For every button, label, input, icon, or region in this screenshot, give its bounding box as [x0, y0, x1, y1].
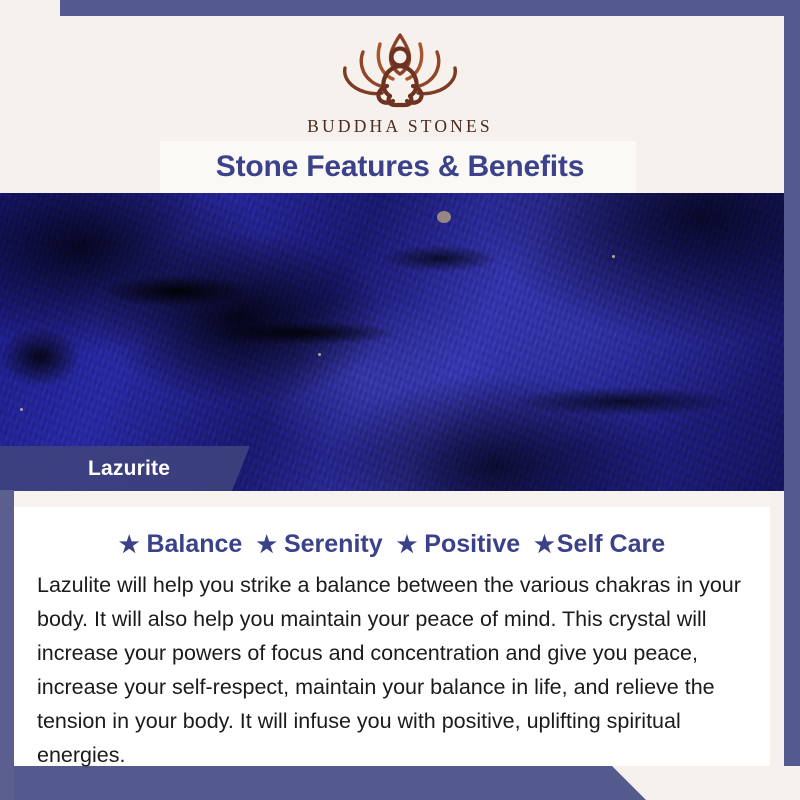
content-top-strip	[14, 491, 770, 507]
stone-name-label: Lazurite	[88, 457, 170, 481]
stone-photo-inclusion	[437, 211, 451, 223]
stone-photo-speck	[318, 353, 321, 356]
card-header: BUDDHA STONES	[0, 16, 800, 145]
frame-top-border	[0, 0, 800, 16]
stone-photo-speck	[20, 408, 23, 411]
feature-keywords-row: ★ Balance ★ Serenity ★ Positive ★ Self C…	[14, 530, 770, 559]
star-icon: ★	[397, 533, 418, 556]
feature-label: Serenity	[284, 530, 383, 559]
page-title: Stone Features & Benefits	[0, 141, 800, 193]
star-icon: ★	[119, 533, 140, 556]
feature-label: Positive	[424, 530, 520, 559]
frame-left-border	[0, 490, 14, 800]
stone-description: Lazulite will help you strike a balance …	[37, 568, 749, 772]
frame-right-border	[784, 0, 800, 800]
feature-label: Self Care	[557, 530, 665, 559]
feature-item-self-care: ★ Self Care	[534, 530, 665, 559]
brand-name: BUDDHA STONES	[307, 116, 493, 137]
feature-item-serenity: ★ Serenity	[256, 530, 382, 559]
star-icon: ★	[256, 533, 277, 556]
star-icon: ★	[534, 533, 555, 556]
stone-name-banner: Lazurite	[0, 446, 250, 491]
stone-photo-speck	[612, 255, 615, 258]
stone-info-card: BUDDHA STONES Stone Features & Benefits …	[0, 0, 800, 800]
feature-label: Balance	[146, 530, 242, 559]
brand-logo: BUDDHA STONES	[0, 26, 800, 137]
feature-item-balance: ★ Balance	[119, 530, 243, 559]
frame-top-left-notch	[0, 0, 60, 16]
lotus-meditation-figure-icon	[325, 26, 475, 112]
feature-item-positive: ★ Positive	[397, 530, 521, 559]
